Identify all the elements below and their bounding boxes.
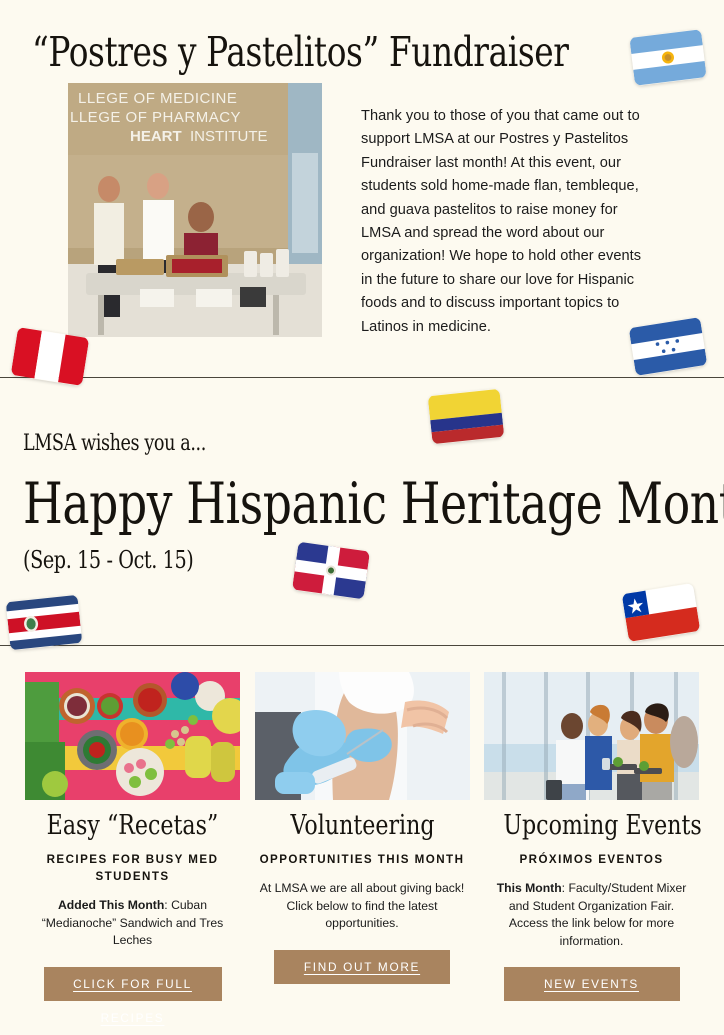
card-subtitle: RECIPES FOR BUSY MED STUDENTS	[25, 851, 240, 885]
card-row: Easy “Recetas” RECIPES FOR BUSY MED STUD…	[0, 672, 724, 1001]
divider-bottom	[0, 645, 724, 646]
fundraiser-body-text: Thank you to those of you that came out …	[361, 105, 656, 339]
events-cta-button[interactable]: NEW EVENTS	[504, 967, 680, 1001]
card-body-rest: At LMSA we are all about giving back! Cl…	[260, 881, 465, 930]
volunteering-vaccine-photo	[255, 672, 470, 800]
svg-text:HEART: HEART	[130, 128, 182, 145]
honduras-flag-icon	[629, 317, 708, 377]
fundraiser-title: “Postres y Pastelitos” Fundraiser	[32, 29, 569, 75]
card-title: Volunteering	[274, 810, 450, 841]
volunteering-cta-button[interactable]: FIND OUT MORE	[274, 950, 450, 984]
heritage-eyebrow: LMSA wishes you a...	[23, 431, 206, 457]
argentina-flag-icon	[629, 29, 706, 86]
svg-text:LLEGE OF MEDICINE: LLEGE OF MEDICINE	[78, 90, 237, 107]
recipes-food-photo	[25, 672, 240, 800]
dominican-republic-flag-icon	[292, 541, 370, 600]
card-subtitle: OPPORTUNITIES THIS MONTH	[255, 851, 470, 868]
card-body: Added This Month: Cuban “Medianoche” San…	[25, 897, 240, 950]
chile-flag-icon	[622, 583, 701, 643]
card-volunteering: Volunteering OPPORTUNITIES THIS MONTH At…	[255, 672, 470, 1001]
colombia-flag-icon	[428, 388, 505, 444]
card-body: At LMSA we are all about giving back! Cl…	[255, 880, 470, 933]
card-recipes: Easy “Recetas” RECIPES FOR BUSY MED STUD…	[25, 672, 240, 1001]
svg-text:LLEGE OF PHARMACY: LLEGE OF PHARMACY	[70, 109, 241, 126]
card-subtitle: PRÓXIMOS EVENTOS	[484, 851, 699, 868]
svg-text:INSTITUTE: INSTITUTE	[190, 128, 268, 145]
card-title: Easy “Recetas”	[44, 810, 220, 841]
costa-rica-flag-icon	[6, 594, 83, 650]
newsletter-page: “Postres y Pastelitos” Fundraiser LLEGE …	[0, 0, 724, 1024]
card-body: This Month: Faculty/Student Mixer and St…	[484, 880, 699, 950]
heritage-headline: Happy Hispanic Heritage Month	[23, 472, 724, 536]
recipes-cta-button[interactable]: CLICK FOR FULL RECIPES	[44, 967, 222, 1001]
card-title: Upcoming Events	[503, 810, 679, 841]
events-mixer-photo	[484, 672, 699, 800]
card-body-lead: Added This Month	[58, 898, 164, 912]
card-events: Upcoming Events PRÓXIMOS EVENTOS This Mo…	[484, 672, 699, 1001]
fundraiser-bake-sale-photo: LLEGE OF MEDICINE LLEGE OF PHARMACY HEAR…	[68, 83, 322, 337]
heritage-dates: (Sep. 15 - Oct. 15)	[23, 546, 193, 574]
divider-top	[0, 377, 724, 378]
card-body-lead: This Month	[497, 881, 562, 895]
